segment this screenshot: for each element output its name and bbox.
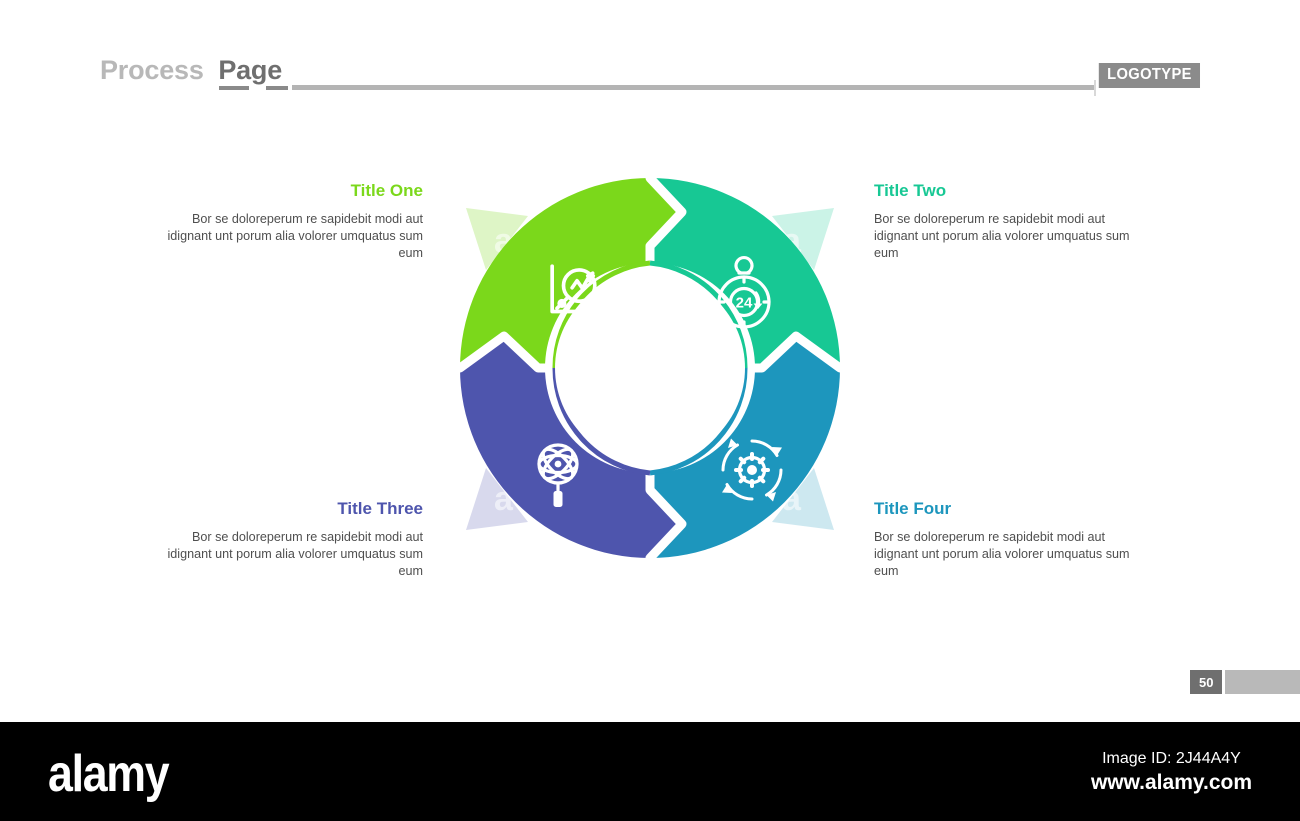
block-three-body: Bor se doloreperum re sapidebit modi aut… [163,529,423,579]
alamy-image-id: Image ID: 2J44A4Y [1091,748,1252,770]
text-block-two: Title Two Bor se doloreperum re sapidebi… [874,181,1134,261]
text-block-one: Title One Bor se doloreperum re sapidebi… [163,181,423,261]
block-one-title: Title One [163,181,423,201]
page-title-strong: Page [218,55,282,86]
title-underline-left [219,86,249,90]
title-underline-right [266,86,288,90]
block-four-title: Title Four [874,499,1134,519]
page-marker: 50 [1190,670,1300,694]
page-title: Process Page [100,55,282,86]
logotype-badge: LOGOTYPE [1099,63,1200,88]
block-two-body: Bor se doloreperum re sapidebit modi aut… [874,211,1134,261]
header-divider-cap [1094,80,1096,96]
alamy-meta: Image ID: 2J44A4Y www.alamy.com [1091,748,1252,796]
slide-header: Process Page LOGOTYPE [100,55,1200,95]
stopwatch-value: 24 [736,295,753,312]
process-cycle-diagram: a a a a [450,168,850,570]
block-three-title: Title Three [163,499,423,519]
page-marker-bar [1225,670,1300,694]
slide-canvas: Process Page LOGOTYPE Title One Bor se d… [0,0,1300,722]
page-title-strong-text: Page [218,55,282,85]
alamy-url: www.alamy.com [1091,770,1252,796]
header-divider-rule [292,85,1094,90]
page-number: 50 [1190,670,1222,694]
block-one-body: Bor se doloreperum re sapidebit modi aut… [163,211,423,261]
block-two-title: Title Two [874,181,1134,201]
page-title-soft: Process [100,55,204,85]
text-block-four: Title Four Bor se doloreperum re sapideb… [874,499,1134,579]
block-four-body: Bor se doloreperum re sapidebit modi aut… [874,529,1134,579]
text-block-three: Title Three Bor se doloreperum re sapide… [163,499,423,579]
alamy-logo: alamy [48,748,168,800]
